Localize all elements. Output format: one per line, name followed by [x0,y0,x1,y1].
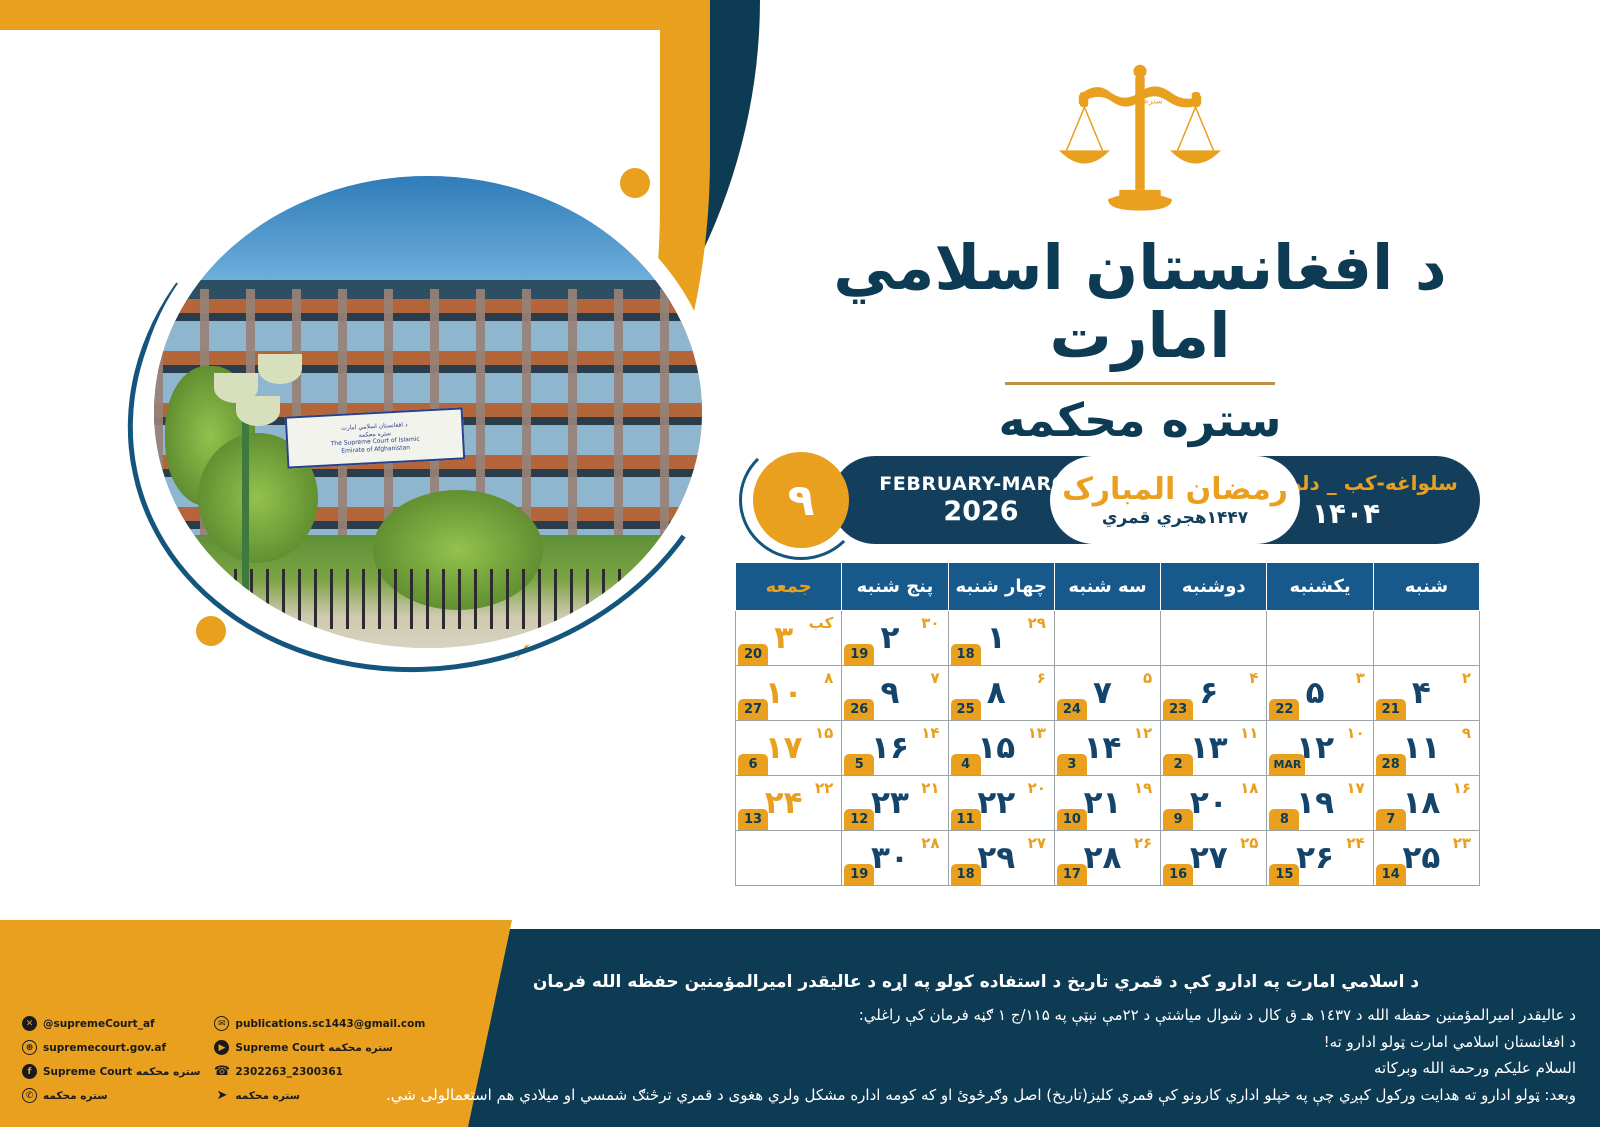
calendar-body: ۱۲۹18۲۳۰19۳کب20۴۲21۵۳22۶۴23۷۵24۸۶25۹۷26۱… [736,611,1480,886]
gregorian-day-badge: 5 [844,754,874,775]
calendar-week-row: ۲۵۲۳14۲۶۲۴15۲۷۲۵16۲۸۲۶17۲۹۲۷18۳۰۲۸19 [736,831,1480,886]
contact-column-right: ✉publications.sc1443@gmail.com▶Supreme C… [214,1016,425,1103]
gregorian-day-badge: 19 [844,644,874,665]
calendar-cell[interactable]: ۲۹۲۷18 [948,831,1054,886]
calendar-cell[interactable]: ۱۳۱۱2 [1161,721,1267,776]
gregorian-day-badge: 19 [844,864,874,885]
calendar-cell[interactable]: ۵۳22 [1267,666,1373,721]
logo-text: ستره محکمه [1117,95,1163,105]
gregorian-day-badge: 4 [951,754,981,775]
gregorian-day-badge: 13 [738,809,768,830]
weekday-header-3: سه شنبه [1054,563,1160,611]
contact-row[interactable]: fSupreme Court ستره محکمه [22,1064,200,1079]
lunar-month-pill: رمضان المبارک ۱۴۴۷هجري قمري [1050,456,1300,544]
contact-text: @supremeCourt_af [43,1018,155,1030]
gregorian-day-badge: 25 [951,699,981,720]
gregorian-day-badge: 17 [1057,864,1087,885]
gregorian-month-marker: MAR [1269,754,1305,775]
lunar-day-number: ۲۹ [1028,614,1046,632]
calligraphy-divider [1005,382,1275,385]
lunar-day-number: ۲۰ [1028,779,1046,797]
gregorian-day-badge: 7 [1376,809,1406,830]
lunar-day-number: ۲۸ [921,834,939,852]
x-twitter-icon[interactable]: ✕ [22,1016,37,1031]
calendar-cell[interactable]: ۲۸۲۶17 [1054,831,1160,886]
lunar-year-label: ۱۴۴۷هجري قمري [1102,508,1248,528]
calendar-week-row: ۱۲۹18۲۳۰19۳کب20 [736,611,1480,666]
weekday-header-6: جمعه [736,563,842,611]
lunar-day-number: ۲۶ [1134,834,1152,852]
phone-icon[interactable]: ☎ [214,1064,229,1079]
gregorian-day-badge: 15 [1269,864,1299,885]
calendar-cell[interactable]: ۱۴۱۲3 [1054,721,1160,776]
gregorian-day-badge: 10 [1057,809,1087,830]
calendar-cell-empty [1054,611,1160,666]
lunar-month-label: رمضان المبارک [1062,472,1288,507]
calendar-cell-empty [1161,611,1267,666]
lunar-day-number: ۱۷ [1346,779,1364,797]
lunar-day-number: ۲۲ [815,779,833,797]
weekday-header-1: یکشنبه [1267,563,1373,611]
calendar-cell[interactable]: ۱۷۱۵6 [736,721,842,776]
calendar-week-row: ۱۸۱۶7۱۹۱۷8۲۰۱۸9۲۱۱۹10۲۲۲۰11۲۳۲۱12۲۴۲۲13 [736,776,1480,831]
calendar-cell-empty [1373,611,1479,666]
lunar-day-number: ۲ [1462,669,1471,687]
calendar-cell[interactable]: ۲۴۲۲13 [736,776,842,831]
gregorian-day-badge: 9 [1163,809,1193,830]
weekday-header-5: پنج شنبه [842,563,948,611]
calendar-cell[interactable]: ۱۶۱۴5 [842,721,948,776]
gregorian-day-badge: 16 [1163,864,1193,885]
gregorian-day-badge: 8 [1269,809,1299,830]
contact-row[interactable]: ☎2302263_2300361 [214,1064,425,1079]
contact-row[interactable]: ✉publications.sc1443@gmail.com [214,1016,425,1031]
calendar-cell[interactable]: ۱۰۸27 [736,666,842,721]
calendar-cell[interactable]: ۱۲۹18 [948,611,1054,666]
gregorian-day-badge: 2 [1163,754,1193,775]
calendar-cell-empty [1267,611,1373,666]
decree-line-0: د عالیقدر امیرالمؤمنین حفظه الله د ۱٤۳۷ … [376,1003,1576,1029]
lunar-day-number: ۱۶ [1453,779,1471,797]
gregorian-day-badge: 12 [844,809,874,830]
lunar-day-number: ۹ [1462,724,1471,742]
contact-block: ✕@supremeCourt_af⊕supremecourt.gov.affSu… [22,1016,352,1103]
decree-line-2: السلام علیکم ورحمة الله وبرکاته [376,1056,1576,1082]
scales-of-justice-icon: ستره محکمه [1045,60,1235,220]
website-icon[interactable]: ⊕ [22,1040,37,1055]
contact-text: Supreme Court ستره محکمه [43,1066,200,1078]
weekday-header-row: شنبهیکشنبهدوشنبهسه شنبهچهار شنبهپنج شنبه… [736,563,1480,611]
decree-line-1: د افغانستان اسلامي امارت ټولو ادارو ته! [376,1030,1576,1056]
decorative-dot-bottom [196,616,226,646]
month-number-badge: ۹ [753,452,849,548]
lunar-day-number: ۱۴ [921,724,939,742]
calendar-cell[interactable]: ۸۶25 [948,666,1054,721]
contact-row[interactable]: ✆ستره محکمه [22,1088,200,1103]
contact-column-left: ✕@supremeCourt_af⊕supremecourt.gov.affSu… [22,1016,200,1103]
gregorian-day-badge: 21 [1376,699,1406,720]
contact-text: ستره محکمه [235,1090,300,1102]
lunar-day-number: ۱۵ [815,724,833,742]
lunar-day-number: ۶ [1037,669,1046,687]
gregorian-day-badge: 23 [1163,699,1193,720]
contact-text: Supreme Court ستره محکمه [235,1042,392,1054]
gregorian-day-badge: 18 [951,864,981,885]
gregorian-day-badge: 18 [951,644,981,665]
supreme-court-title: ستره محکمه [830,393,1450,447]
gregorian-day-badge: 24 [1057,699,1087,720]
gregorian-day-badge: 26 [844,699,874,720]
solar-year-label: ۱۴۰۴ [1312,497,1380,530]
decree-title: د اسلامي امارت په ادارو کې د قمري تاریخ … [376,968,1576,997]
supreme-court-building-photo: د افغانستان اسلامي امارت ستره محکمه The … [154,176,702,648]
lunar-day-number: ۲۳ [1453,834,1471,852]
calendar-cell[interactable]: ۱۸۱۶7 [1373,776,1479,831]
calendar-cell[interactable]: ۹۷26 [842,666,948,721]
calendar-cell[interactable]: ۲۳۰19 [842,611,948,666]
calendar-cell[interactable]: ۲۲۲۰11 [948,776,1054,831]
calendar-grid: شنبهیکشنبهدوشنبهسه شنبهچهار شنبهپنج شنبه… [735,562,1480,886]
email-icon[interactable]: ✉ [214,1016,229,1031]
calendar-cell[interactable]: ۲۵۲۳14 [1373,831,1479,886]
lunar-day-number: ۱۸ [1240,779,1258,797]
gregorian-year-label: 2026 [943,496,1018,527]
youtube-icon[interactable]: ▶ [214,1040,229,1055]
calendar-cell-empty [736,831,842,886]
gregorian-day-badge: 11 [951,809,981,830]
month-header: سلواغه-کب _ دلو-حوت ۱۴۰۴ رمضان المبارک ۱… [735,452,1480,548]
calendar-week-row: ۴۲21۵۳22۶۴23۷۵24۸۶25۹۷26۱۰۸27 [736,666,1480,721]
contact-text: ستره محکمه [43,1090,108,1102]
weekday-header-2: دوشنبه [1161,563,1267,611]
calendar-cell[interactable]: ۲۷۲۵16 [1161,831,1267,886]
facebook-icon[interactable]: f [22,1064,37,1079]
calendar-cell[interactable]: ۷۵24 [1054,666,1160,721]
lunar-day-number: ۵ [1143,669,1152,687]
lunar-day-number: ۲۱ [921,779,939,797]
calendar-cell[interactable]: ۲۶۲۴15 [1267,831,1373,886]
decree-lines: د عالیقدر امیرالمؤمنین حفظه الله د ۱٤۳۷ … [376,1003,1576,1108]
telegram-icon[interactable]: ➤ [214,1088,229,1103]
calendar-week-row: ۱۱۹28۱۲۱۰MAR۱۳۱۱2۱۴۱۲3۱۵۱۳4۱۶۱۴5۱۷۱۵6 [736,721,1480,776]
calendar-cell[interactable]: ۲۳۲۱12 [842,776,948,831]
contact-text: publications.sc1443@gmail.com [235,1018,425,1030]
lunar-day-number: کب [809,614,834,632]
lunar-day-number: ۱۳ [1028,724,1046,742]
lunar-day-number: ۲۴ [1346,834,1364,852]
gregorian-day-badge: 28 [1376,754,1406,775]
gregorian-day-badge: 20 [738,644,768,665]
calendar-cell[interactable]: ۲۱۱۹10 [1054,776,1160,831]
lunar-day-number: ۱۹ [1134,779,1152,797]
calendar-cell[interactable]: ۲۰۱۸9 [1161,776,1267,831]
contact-row[interactable]: ▶Supreme Court ستره محکمه [214,1040,425,1055]
gregorian-day-badge: 6 [738,754,768,775]
lunar-day-number: ۳ [1356,669,1365,687]
lunar-day-number: ۷ [930,669,939,687]
contact-text: supremecourt.gov.af [43,1042,166,1054]
gregorian-day-badge: 27 [738,699,768,720]
whatsapp-icon[interactable]: ✆ [22,1088,37,1103]
contact-row[interactable]: ✕@supremeCourt_af [22,1016,200,1031]
gregorian-day-badge: 14 [1376,864,1406,885]
brand-block: ستره محکمه د افغانستان اسلامي امارت ستره… [830,60,1450,447]
calendar-cell[interactable]: ۳۰۲۸19 [842,831,948,886]
calendar-cell[interactable]: ۶۴23 [1161,666,1267,721]
lunar-day-number: ۳۰ [921,614,939,632]
contact-text: 2302263_2300361 [235,1066,343,1078]
decorative-dot-top [620,168,650,198]
lunar-day-number: ۲۵ [1240,834,1258,852]
calendar-cell[interactable]: ۴۲21 [1373,666,1479,721]
calendar-cell[interactable]: ۱۱۹28 [1373,721,1479,776]
decree-block: د اسلامي امارت په ادارو کې د قمري تاریخ … [376,968,1576,1109]
weekday-header-0: شنبه [1373,563,1479,611]
lunar-day-number: ۱۰ [1346,724,1364,742]
decree-line-3: وبعد: ټولو ادارو ته هدایت ورکول کېږي چې … [376,1083,1576,1109]
calendar-cell[interactable]: ۱۹۱۷8 [1267,776,1373,831]
lunar-day-number: ۱۲ [1134,724,1152,742]
calendar-table: شنبهیکشنبهدوشنبهسه شنبهچهار شنبهپنج شنبه… [735,562,1480,886]
weekday-header-4: چهار شنبه [948,563,1054,611]
contact-row[interactable]: ➤ستره محکمه [214,1088,425,1103]
calendar-cell[interactable]: ۳کب20 [736,611,842,666]
gregorian-day-badge: 3 [1057,754,1087,775]
lunar-day-number: ۴ [1249,669,1258,687]
emirate-calligraphy: د افغانستان اسلامي امارت [830,234,1450,370]
calendar-cell[interactable]: ۱۲۱۰MAR [1267,721,1373,776]
lunar-day-number: ۲۷ [1028,834,1046,852]
hero-photo-container: د افغانستان اسلامي امارت ستره محکمه The … [148,168,706,650]
contact-row[interactable]: ⊕supremecourt.gov.af [22,1040,200,1055]
lunar-day-number: ۸ [824,669,833,687]
gregorian-day-badge: 22 [1269,699,1299,720]
calendar-cell[interactable]: ۱۵۱۳4 [948,721,1054,776]
lunar-day-number: ۱۱ [1240,724,1258,742]
building-signboard: د افغانستان اسلامي امارت ستره محکمه The … [284,407,464,468]
